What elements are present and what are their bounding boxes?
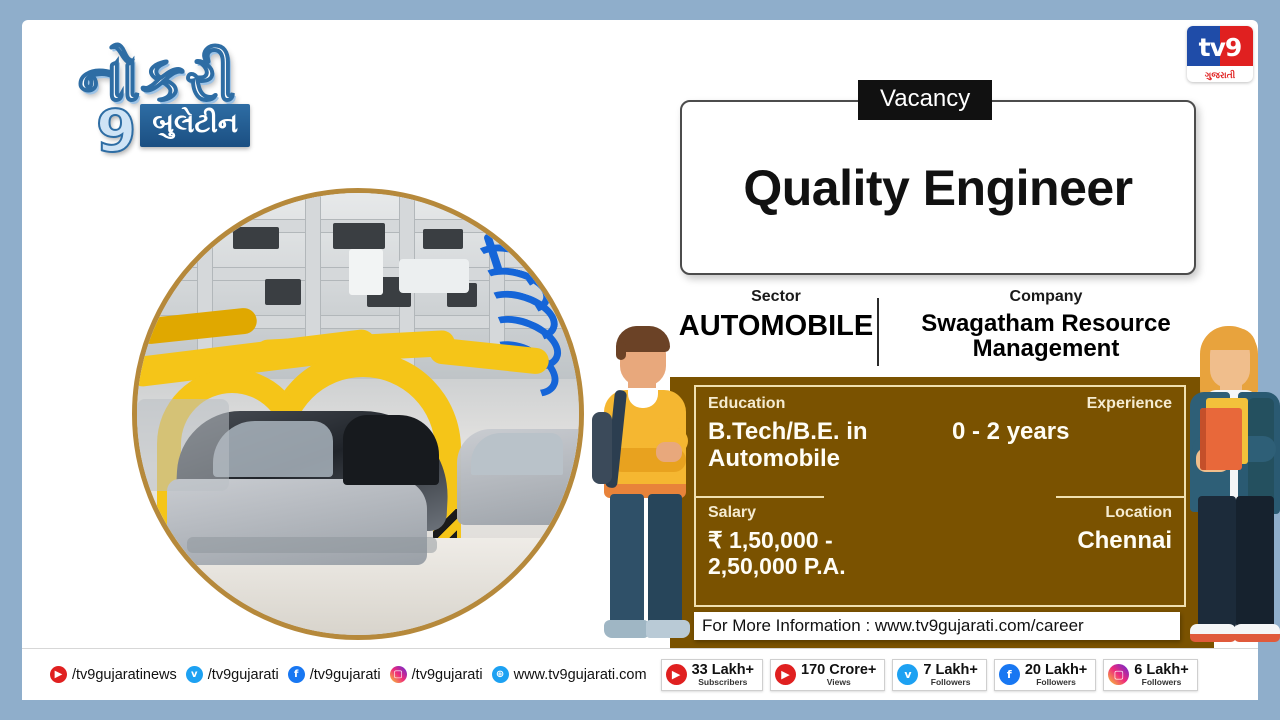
stat-number: 6 Lakh+ [1134, 663, 1188, 678]
handle-facebook[interactable]: f /tv9gujarati [288, 666, 381, 683]
stat-number: 33 Lakh+ [692, 663, 754, 678]
location-label: Location [952, 504, 1172, 522]
social-handles: ▶ /tv9gujaratinews ᴠ /tv9gujarati f /tv9… [22, 666, 647, 683]
facebook-icon: f [288, 666, 305, 683]
education-value: B.Tech/B.E. in Automobile [708, 419, 928, 473]
job-title: Quality Engineer [743, 159, 1132, 217]
nokri-bulletin-logo: નોકરી 9 બુલેટીન [70, 48, 340, 228]
male-student-illustration [588, 316, 710, 660]
stat-twitter-followers: ᴠ 7 Lakh+ Followers [892, 659, 986, 691]
instagram-icon: ▢ [1108, 664, 1129, 685]
details-grid: Education B.Tech/B.E. in Automobile Expe… [694, 385, 1186, 607]
car-assembly-line-photo [132, 188, 584, 640]
tv9-wordmark: tv9 [1187, 28, 1253, 66]
brand-subtitle-row: 9 બુલેટીન [70, 104, 340, 157]
experience-value: 0 - 2 years [952, 419, 1172, 446]
youtube-icon: ▶ [666, 664, 687, 685]
handle-twitter[interactable]: ᴠ /tv9gujarati [186, 666, 279, 683]
social-footer: ▶ /tv9gujaratinews ᴠ /tv9gujarati f /tv9… [22, 648, 1258, 700]
tv9-language-label: ગુજરાતી [1187, 71, 1253, 81]
tv9-gujarati-logo: tv9 ગુજરાતી [1187, 26, 1253, 82]
stat-facebook-followers: f 20 Lakh+ Followers [994, 659, 1096, 691]
stat-label: Followers [1142, 678, 1182, 687]
vacancy-tag: Vacancy [858, 80, 992, 120]
experience-label: Experience [952, 395, 1172, 413]
youtube-icon: ▶ [50, 666, 67, 683]
detail-experience: Experience 0 - 2 years [940, 385, 1186, 496]
stat-label: Followers [931, 678, 971, 687]
stat-youtube-views: ▶ 170 Crore+ Views [770, 659, 885, 691]
detail-location: Location Chennai [940, 496, 1186, 607]
sector-company-divider [877, 298, 879, 366]
handle-facebook-label: /tv9gujarati [310, 667, 381, 683]
salary-value: ₹ 1,50,000 - 2,50,000 P.A. [708, 528, 928, 580]
company-value: Swagatham Resource Management [890, 311, 1202, 361]
brand-bulletin-badge: બુલેટીન [140, 104, 250, 147]
company-label: Company [890, 288, 1202, 306]
handle-youtube-label: /tv9gujaratinews [72, 667, 177, 683]
more-information-bar[interactable]: For More Information : www.tv9gujarati.c… [694, 612, 1180, 640]
stat-label: Views [827, 678, 851, 687]
detail-salary: Salary ₹ 1,50,000 - 2,50,000 P.A. [694, 496, 940, 607]
social-stats: ▶ 33 Lakh+ Subscribers ▶ 170 Crore+ View… [661, 659, 1198, 691]
sector-label: Sector [662, 288, 890, 306]
twitter-icon: ᴠ [186, 666, 203, 683]
more-information-text: For More Information : www.tv9gujarati.c… [702, 616, 1084, 636]
stat-youtube-subscribers: ▶ 33 Lakh+ Subscribers [661, 659, 763, 691]
handle-website-label: www.tv9gujarati.com [514, 667, 647, 683]
handle-website[interactable]: ⊕ www.tv9gujarati.com [492, 666, 647, 683]
facebook-icon: f [999, 664, 1020, 685]
brand-nine-glyph: 9 [96, 105, 136, 157]
education-label: Education [708, 395, 928, 413]
female-professional-illustration [1182, 318, 1280, 660]
website-icon: ⊕ [492, 666, 509, 683]
stat-number: 170 Crore+ [801, 663, 876, 678]
handle-instagram-label: /tv9gujarati [412, 667, 483, 683]
location-value: Chennai [952, 528, 1172, 555]
sector-company-row: Sector AUTOMOBILE Company Swagatham Reso… [662, 288, 1202, 376]
stat-label: Subscribers [698, 678, 747, 687]
stat-label: Followers [1036, 678, 1076, 687]
twitter-icon: ᴠ [897, 664, 918, 685]
handle-twitter-label: /tv9gujarati [208, 667, 279, 683]
company-block: Company Swagatham Resource Management [890, 288, 1202, 376]
stat-instagram-followers: ▢ 6 Lakh+ Followers [1103, 659, 1197, 691]
poster-card: નોકરી 9 બુલેટીન [22, 20, 1258, 698]
stat-number: 20 Lakh+ [1025, 663, 1087, 678]
stat-number: 7 Lakh+ [923, 663, 977, 678]
handle-youtube[interactable]: ▶ /tv9gujaratinews [50, 666, 177, 683]
handle-instagram[interactable]: ▢ /tv9gujarati [390, 666, 483, 683]
vacancy-box: Quality Engineer [680, 100, 1196, 275]
instagram-icon: ▢ [390, 666, 407, 683]
detail-education: Education B.Tech/B.E. in Automobile [694, 385, 940, 496]
salary-label: Salary [708, 504, 928, 522]
youtube-icon: ▶ [775, 664, 796, 685]
